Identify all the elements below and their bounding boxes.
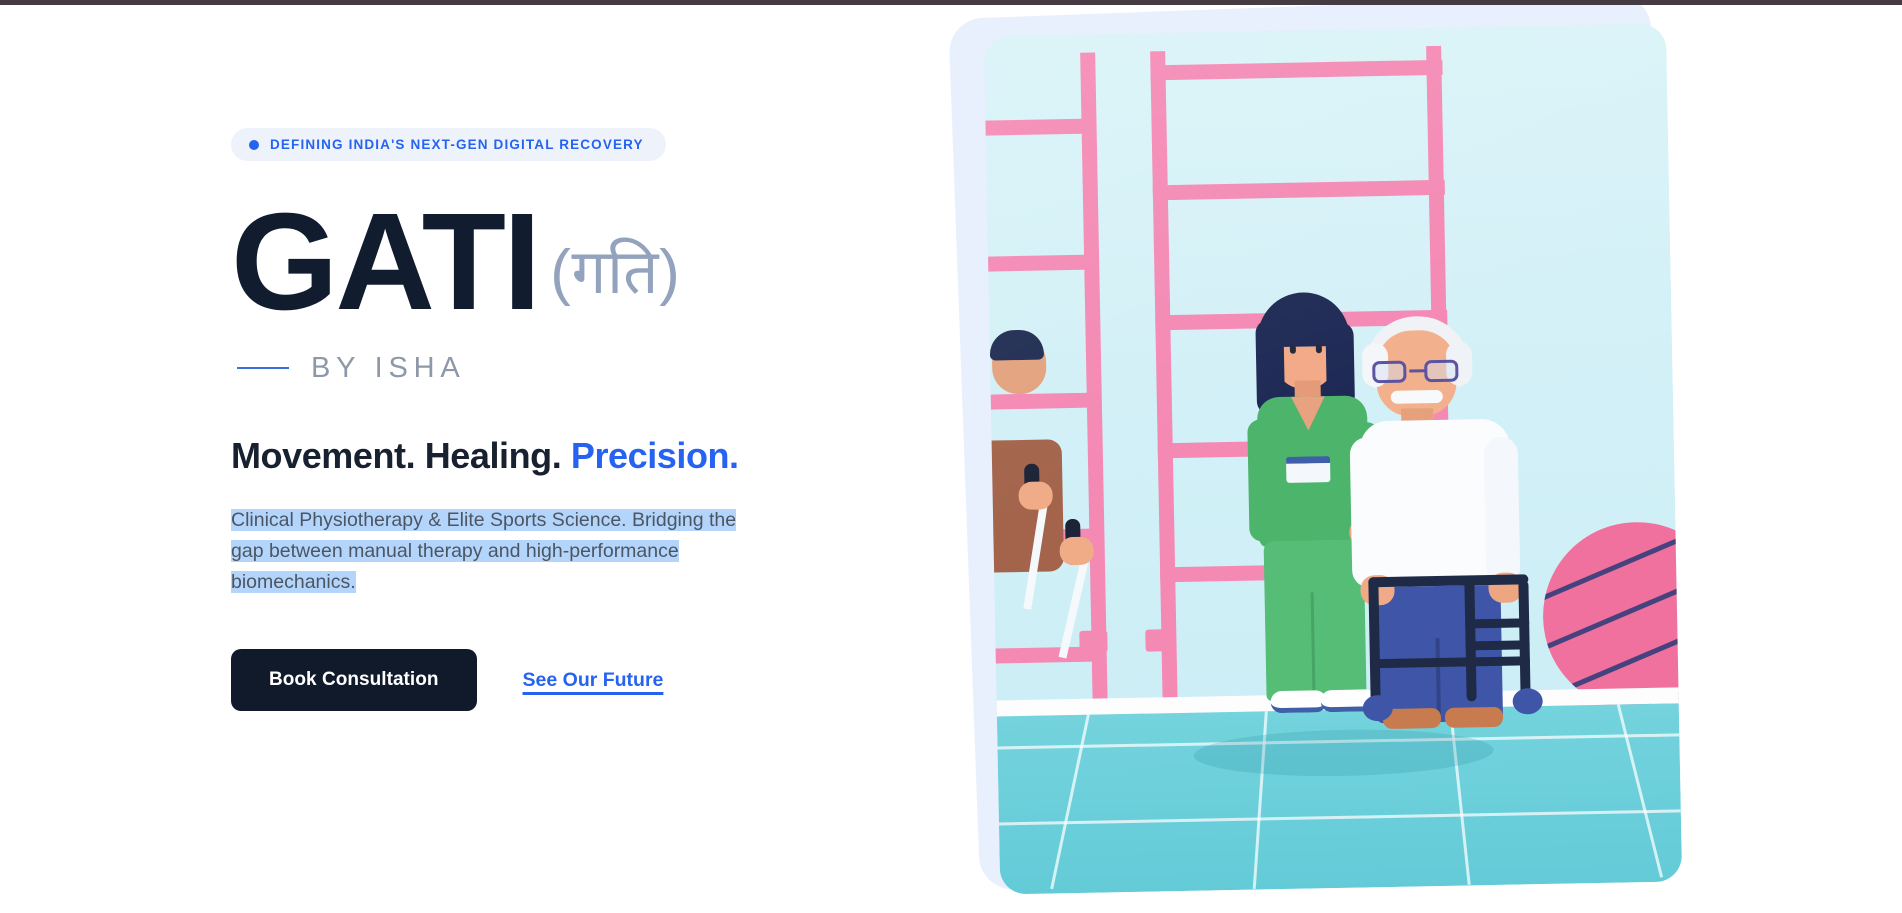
brand-devanagari: (गति) (550, 242, 680, 304)
description-line-2: gap between manual therapy and high-perf… (231, 540, 679, 562)
see-our-future-link[interactable]: See Our Future (523, 669, 664, 692)
physiotherapy-scene (984, 24, 1682, 895)
walking-frame (1368, 573, 1581, 727)
description-line-1: Clinical Physiotherapy & Elite Sports Sc… (231, 509, 736, 531)
hero-illustration (948, 0, 1902, 913)
byline-label: BY ISHA (311, 352, 466, 385)
blue-dot-icon (249, 140, 259, 150)
illustration-card (984, 24, 1682, 895)
byline-dash-icon (237, 367, 289, 369)
page-title: GATI (231, 199, 538, 326)
wall-bar-foot-main (1145, 629, 1173, 652)
hero-content: DEFINING INDIA'S NEXT-GEN DIGITAL RECOVE… (231, 128, 951, 711)
wall-bar-rung-l2 (984, 255, 1092, 273)
brand-byline: BY ISHA (237, 352, 951, 385)
book-consultation-button[interactable]: Book Consultation (231, 649, 477, 711)
cta-row: Book Consultation See Our Future (231, 649, 951, 711)
wall-bar-rung-l1 (984, 119, 1090, 137)
description-line-3: biomechanics. (231, 571, 356, 593)
hero-description: Clinical Physiotherapy & Elite Sports Sc… (231, 505, 871, 597)
background-patient-with-crutches (1008, 334, 1134, 646)
browser-top-bar (0, 0, 1902, 5)
hero-tagline: Movement. Healing. Precision. (231, 435, 951, 477)
tagline-badge: DEFINING INDIA'S NEXT-GEN DIGITAL RECOVE… (231, 128, 666, 161)
tagline-base: Movement. Healing. (231, 435, 561, 476)
badge-label: DEFINING INDIA'S NEXT-GEN DIGITAL RECOVE… (270, 137, 644, 152)
brand-lockup: GATI (गति) (231, 199, 951, 326)
tagline-accent: Precision. (571, 435, 739, 476)
hero-page: DEFINING INDIA'S NEXT-GEN DIGITAL RECOVE… (0, 0, 1902, 913)
